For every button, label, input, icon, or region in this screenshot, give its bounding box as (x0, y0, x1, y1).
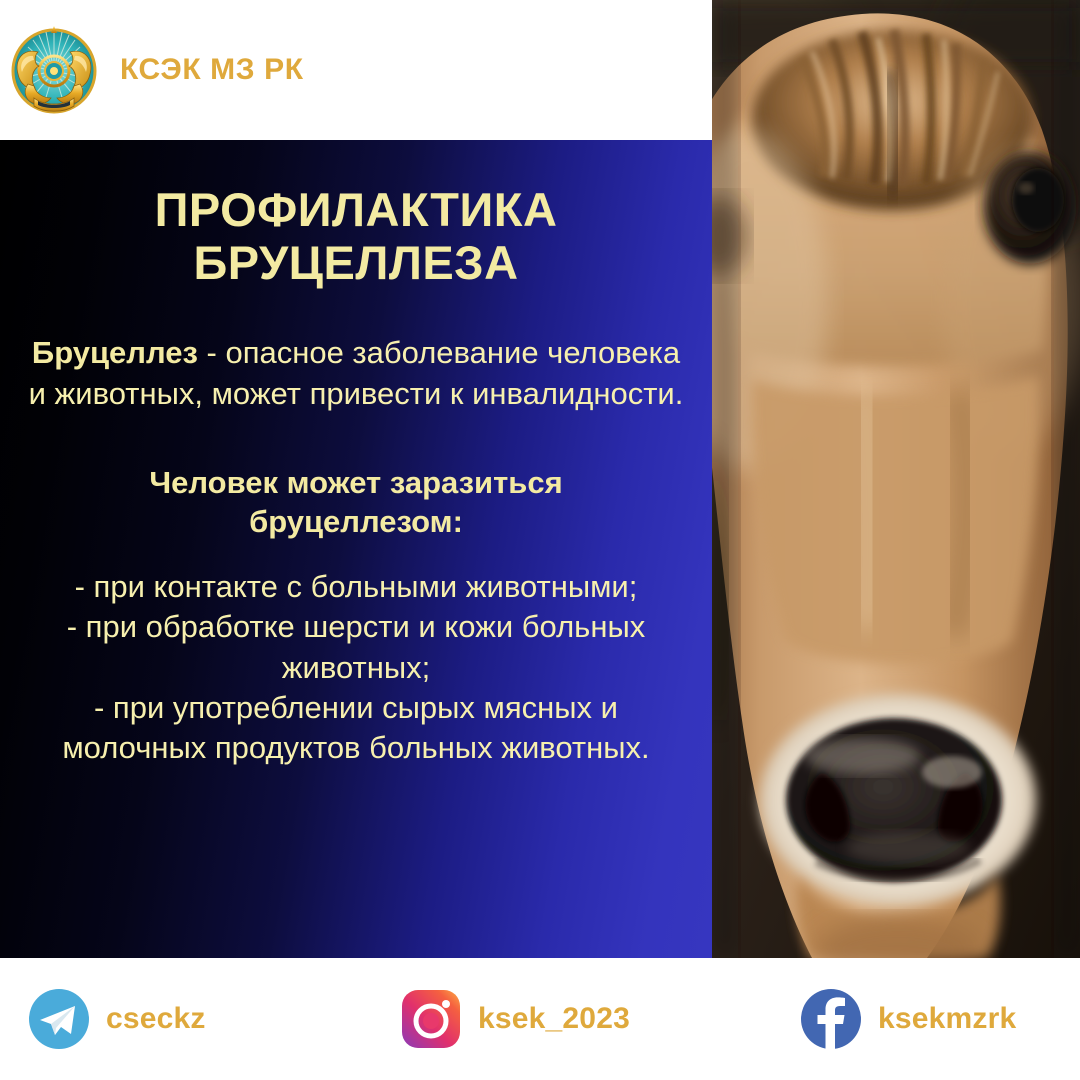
page-title: ПРОФИЛАКТИКА БРУЦЕЛЛЕЗА (22, 184, 690, 289)
title-line-2: БРУЦЕЛЛЕЗА (22, 237, 690, 290)
telegram-handle: cseckz (106, 1002, 206, 1036)
kazakhstan-state-emblem-icon (8, 22, 100, 118)
transmission-heading-line-2: бруцеллезом: (22, 503, 690, 542)
intro-lead-term: Бруцеллез (32, 335, 198, 370)
telegram-icon (28, 988, 90, 1050)
list-item: - при обработке шерсти и кожи больных жи… (22, 607, 690, 688)
social-link-telegram[interactable]: cseckz (28, 986, 206, 1052)
facebook-icon (800, 988, 862, 1050)
transmission-heading: Человек может заразиться бруцеллезом: (22, 464, 690, 542)
social-link-instagram[interactable]: ksek_2023 (400, 986, 630, 1052)
infographic-poster: КСЭК МЗ РК ПРОФИЛАКТИКА БРУЦЕЛЛЕЗА Бруце… (0, 0, 1080, 1080)
content-panel: ПРОФИЛАКТИКА БРУЦЕЛЛЕЗА Бруцеллез - опас… (0, 140, 712, 958)
list-item: - при употреблении сырых мясных и молочн… (22, 688, 690, 769)
poster-header: КСЭК МЗ РК (0, 0, 712, 140)
facebook-handle: ksekmzrk (878, 1002, 1016, 1036)
list-item: - при контакте с больными животными; (22, 567, 690, 607)
cow-photo (712, 0, 1080, 958)
social-footer: cseckz (0, 958, 1080, 1080)
transmission-heading-line-1: Человек может заразиться (22, 464, 690, 503)
transmission-routes-list: - при контакте с больными животными; - п… (22, 567, 690, 768)
instagram-handle: ksek_2023 (478, 1002, 630, 1036)
intro-paragraph: Бруцеллез - опасное заболевание человека… (22, 333, 690, 414)
title-line-1: ПРОФИЛАКТИКА (22, 184, 690, 237)
instagram-icon (400, 988, 462, 1050)
social-link-facebook[interactable]: ksekmzrk (800, 986, 1016, 1052)
organization-name: КСЭК МЗ РК (120, 53, 304, 87)
